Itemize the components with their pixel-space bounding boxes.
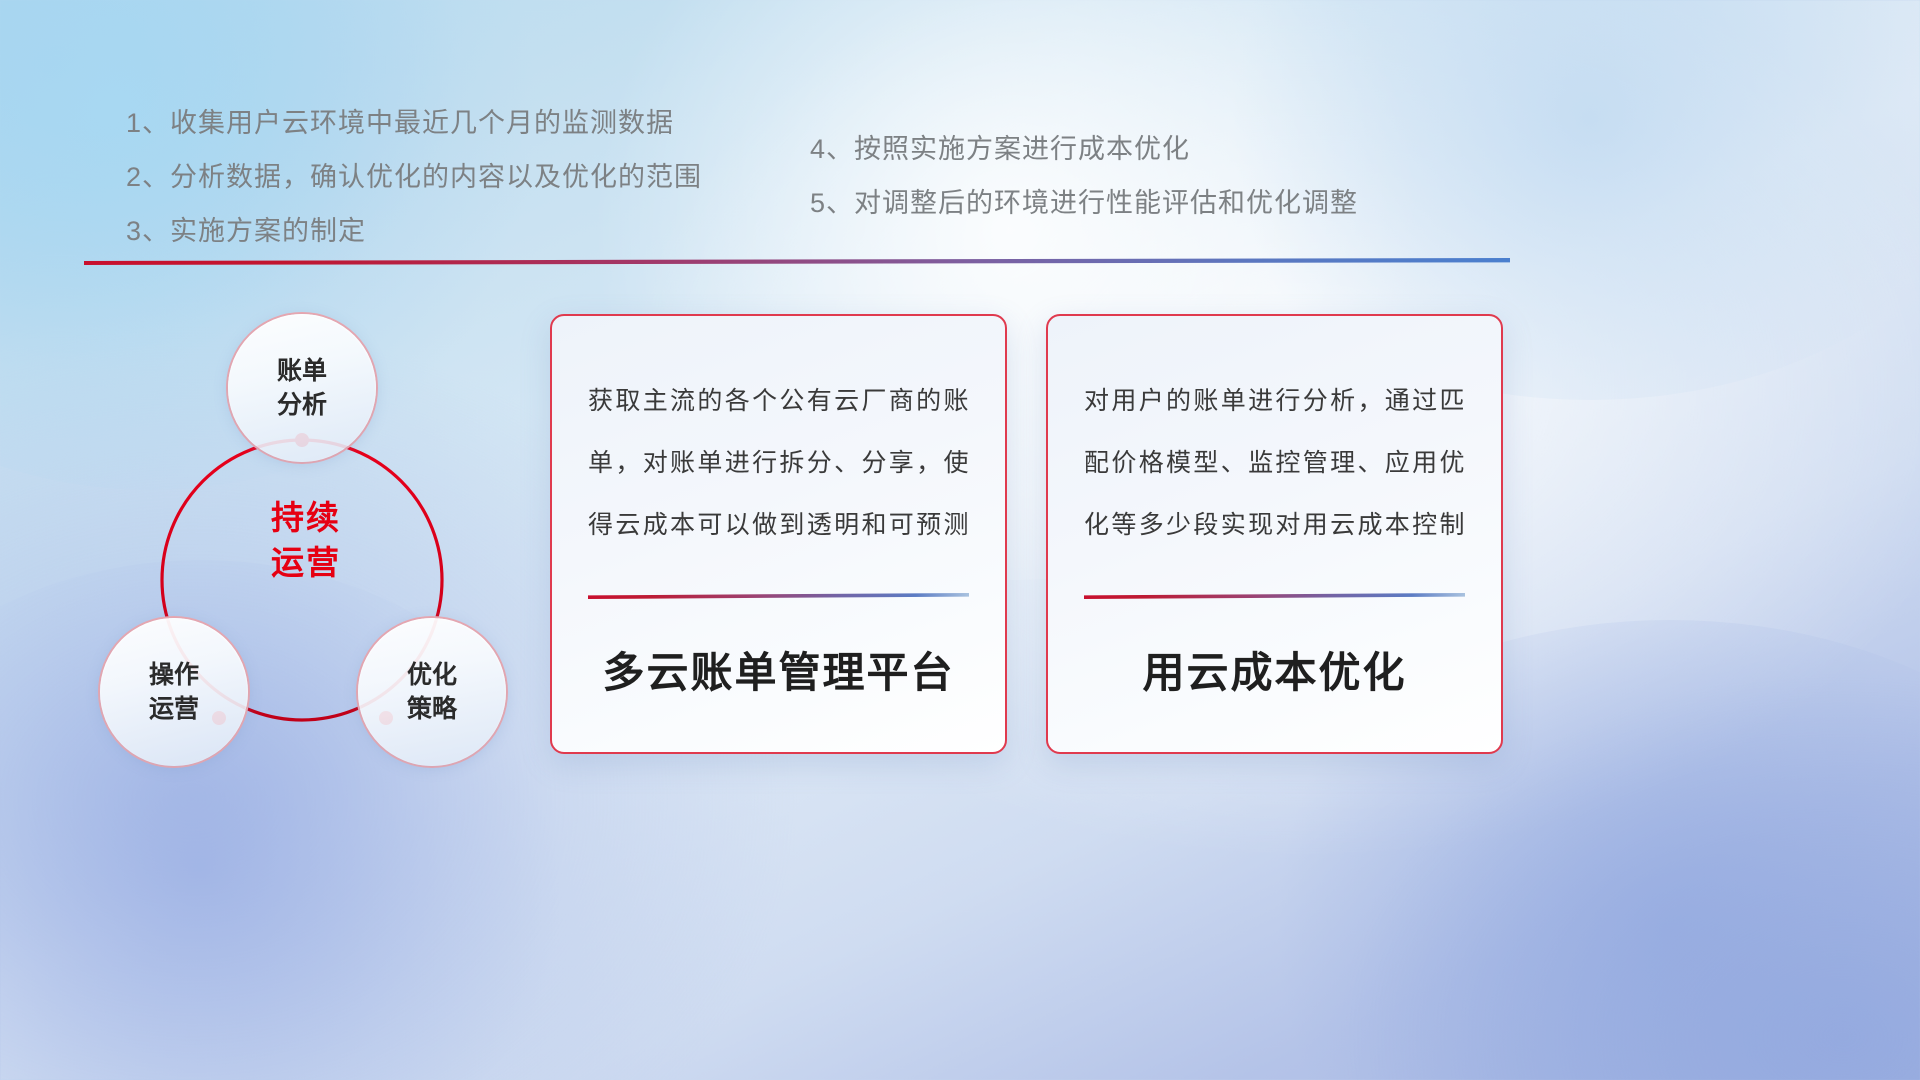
- card-multi-cloud-billing-platform[interactable]: 获取主流的各个公有云厂商的账单，对账单进行拆分、分享，使得云成本可以做到透明和可…: [550, 314, 1007, 754]
- venn-bubble-optimization-strategy[interactable]: 优化 策略: [358, 618, 506, 766]
- venn-bubble-operation-management[interactable]: 操作 运营: [100, 618, 248, 766]
- venn-center-label: 持续 运营: [226, 485, 386, 595]
- venn-bubble-label-line1: 账单: [277, 354, 327, 388]
- card-title: 用云成本优化: [1084, 599, 1465, 752]
- venn-bubble-label-line2: 分析: [277, 388, 327, 422]
- steps-right-column: 4、按照实施方案进行成本优化 5、对调整后的环境进行性能评估和优化调整: [810, 122, 1358, 230]
- venn-bubble-bill-analysis[interactable]: 账单 分析: [228, 314, 376, 462]
- step-item-4: 4、按照实施方案进行成本优化: [810, 122, 1358, 176]
- steps-left-column: 1、收集用户云环境中最近几个月的监测数据 2、分析数据，确认优化的内容以及优化的…: [126, 96, 702, 258]
- card-cloud-cost-optimization[interactable]: 对用户的账单进行分析，通过匹配价格模型、监控管理、应用优化等多少段实现对用云成本…: [1046, 314, 1503, 754]
- step-item-5: 5、对调整后的环境进行性能评估和优化调整: [810, 176, 1358, 230]
- venn-bubble-label-line2: 运营: [149, 692, 199, 726]
- venn-bubble-label-line1: 操作: [149, 658, 199, 692]
- step-item-3: 3、实施方案的制定: [126, 204, 702, 258]
- card-title: 多云账单管理平台: [588, 599, 969, 752]
- card-body-text: 获取主流的各个公有云厂商的账单，对账单进行拆分、分享，使得云成本可以做到透明和可…: [588, 370, 969, 556]
- venn-bubble-label-line1: 优化: [407, 658, 457, 692]
- continuous-operation-venn-diagram: 账单 分析 操作 运营 优化 策略 持续 运营: [86, 300, 526, 770]
- venn-bubble-label-line2: 策略: [407, 692, 457, 726]
- step-item-2: 2、分析数据，确认优化的内容以及优化的范围: [126, 150, 702, 204]
- step-item-1: 1、收集用户云环境中最近几个月的监测数据: [126, 96, 702, 150]
- card-body-text: 对用户的账单进行分析，通过匹配价格模型、监控管理、应用优化等多少段实现对用云成本…: [1084, 370, 1465, 556]
- section-divider-rule: [84, 258, 1510, 265]
- venn-center-label-line2: 运营: [271, 540, 341, 585]
- venn-center-label-line1: 持续: [271, 495, 341, 540]
